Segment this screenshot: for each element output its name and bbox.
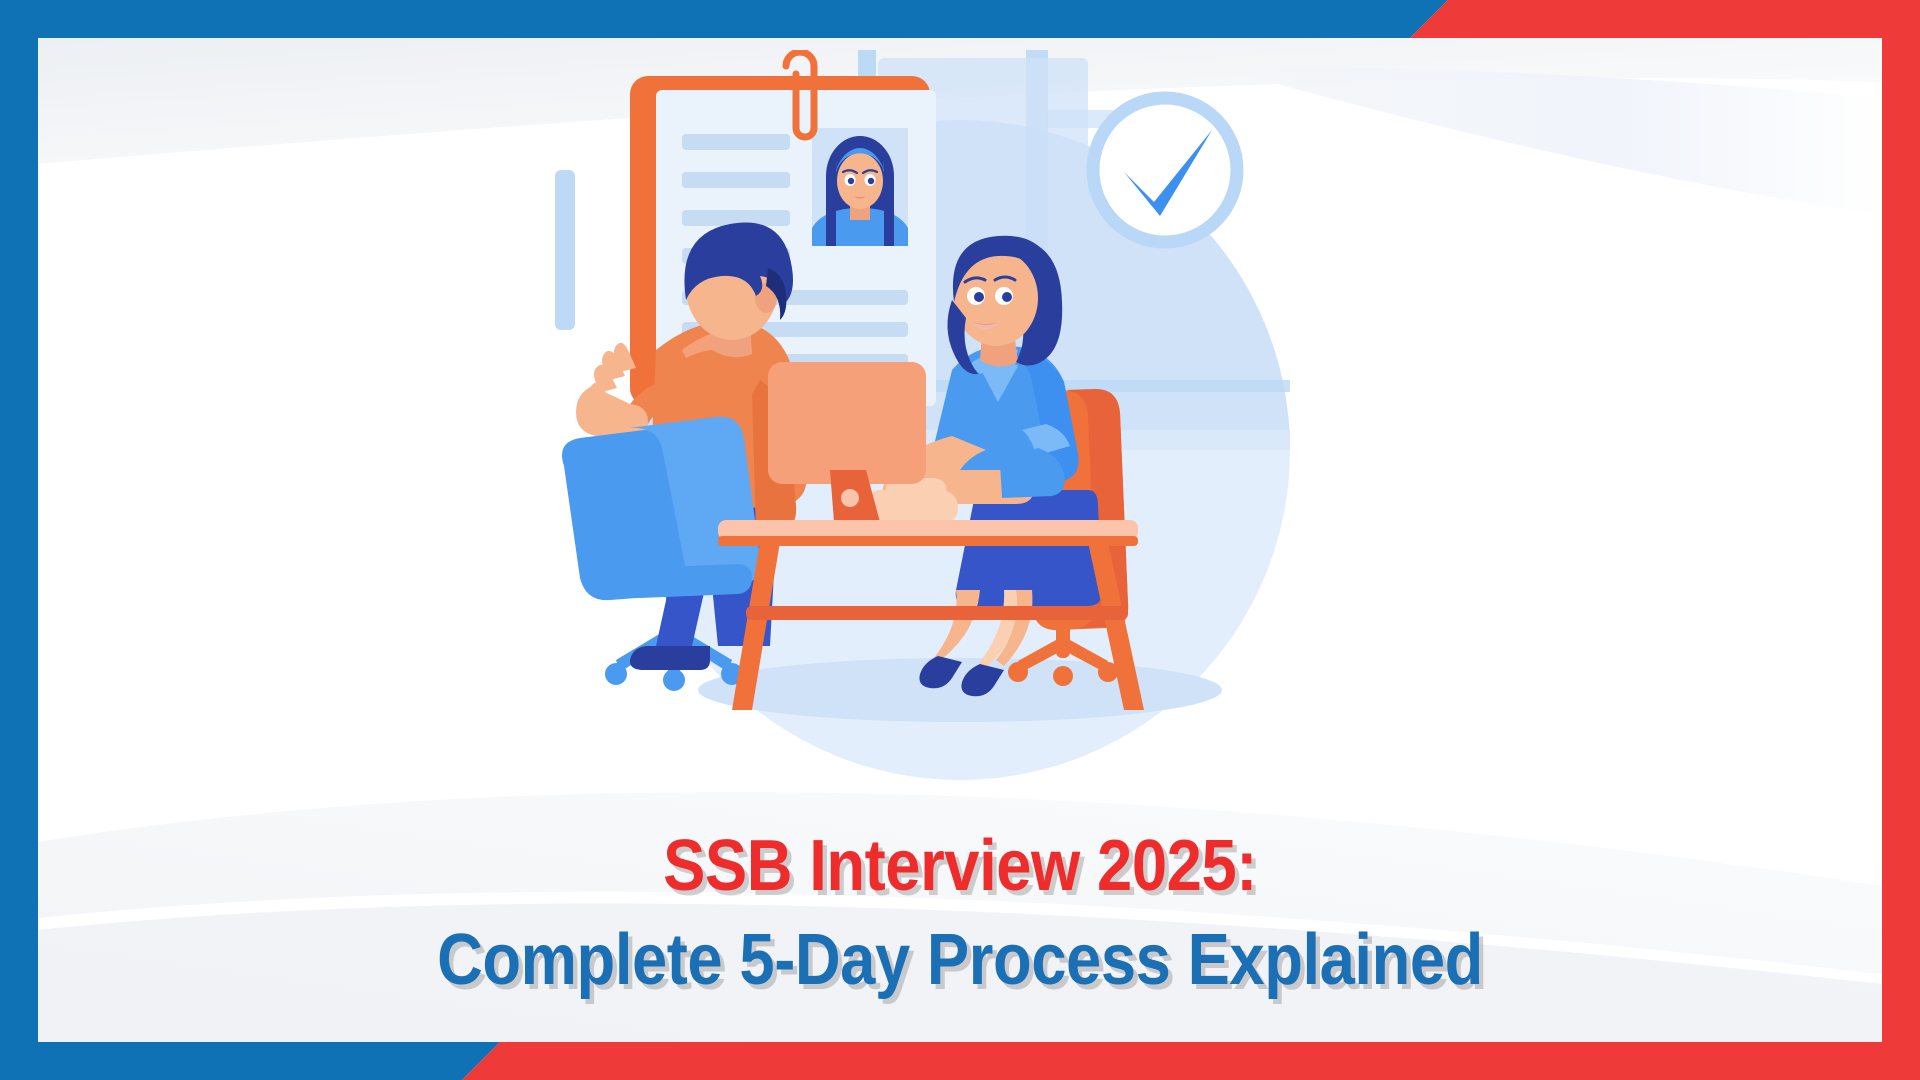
- frame-top-red: [1410, 0, 1920, 38]
- frame-bottom-blue: [0, 1042, 500, 1080]
- headline-line-2: Complete 5-Day Process Explained: [149, 922, 1772, 1000]
- headline-block: SSB Interview 2025: Complete 5-Day Proce…: [38, 828, 1882, 1000]
- interview-illustration: [460, 50, 1460, 810]
- poster-inner-canvas: SSB Interview 2025: Complete 5-Day Proce…: [38, 38, 1882, 1042]
- frame-top-blue: [0, 0, 1448, 38]
- frame-right-red: [1882, 0, 1920, 1080]
- verified-check-badge: [1093, 98, 1237, 242]
- poster-canvas: SSB Interview 2025: Complete 5-Day Proce…: [0, 0, 1920, 1080]
- headline-line-1: SSB Interview 2025:: [149, 828, 1772, 906]
- applicant-photo: [812, 128, 908, 246]
- frame-left-blue: [0, 0, 38, 1080]
- frame-bottom-red: [462, 1042, 1920, 1080]
- floor-shadow: [698, 658, 1222, 722]
